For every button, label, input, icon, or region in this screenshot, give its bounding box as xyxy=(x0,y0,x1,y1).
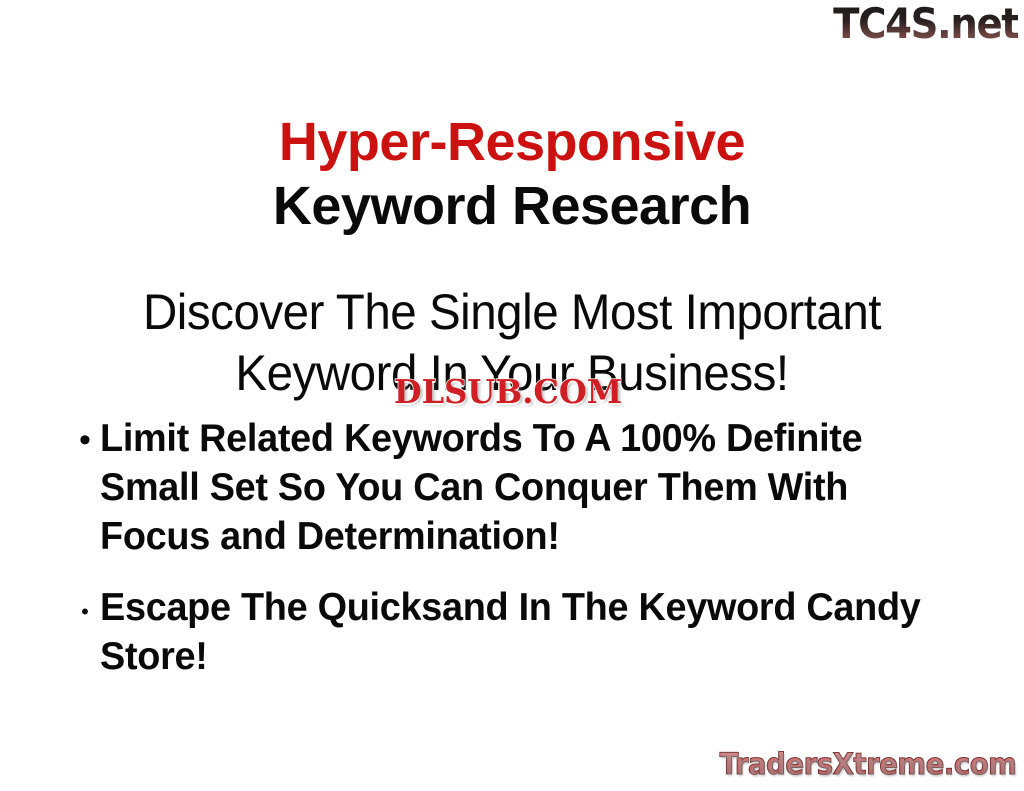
page-title: Hyper-Responsive Keyword Research xyxy=(0,110,1024,238)
bullet-list: • Limit Related Keywords To A 100% Defin… xyxy=(70,414,950,681)
list-item: • Escape The Quicksand In The Keyword Ca… xyxy=(70,583,950,681)
list-item-label: Escape The Quicksand In The Keyword Cand… xyxy=(100,583,925,681)
site-logo-tradersxtreme: TradersXtreme.com xyxy=(719,747,1016,781)
watermark-dlsub: DLSUB.COM xyxy=(367,374,648,410)
title-line-secondary: Keyword Research xyxy=(0,174,1024,238)
subtitle-line-1: Discover The Single Most Important xyxy=(26,282,999,343)
bullet-dot-icon: • xyxy=(70,414,100,466)
slide-canvas: TC4S.net Hyper-Responsive Keyword Resear… xyxy=(0,0,1024,791)
title-line-primary: Hyper-Responsive xyxy=(0,110,1024,174)
brand-logo-tc4s: TC4S.net xyxy=(833,2,1018,46)
list-item: • Limit Related Keywords To A 100% Defin… xyxy=(70,414,950,561)
bullet-dot-icon: • xyxy=(70,583,100,641)
list-item-label: Limit Related Keywords To A 100% Definit… xyxy=(100,414,925,561)
